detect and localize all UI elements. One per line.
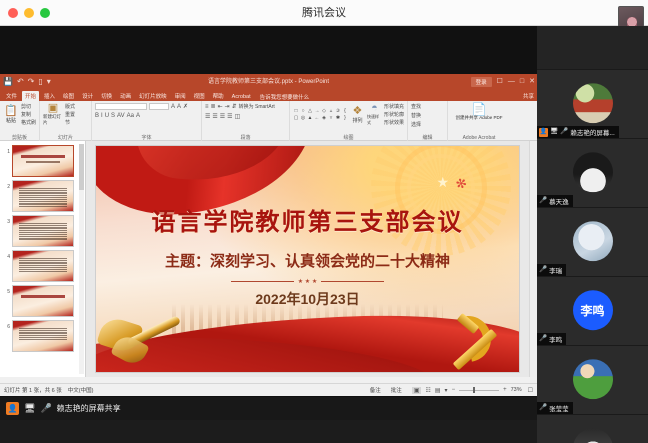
powerpoint-window-buttons[interactable]: 登录 ☐ — □ ✕ <box>471 76 535 87</box>
participant-name: 慕天逸 <box>549 196 569 206</box>
paste-icon: 📋 <box>4 106 18 117</box>
clear-formatting-icon[interactable]: ✗ <box>183 103 188 110</box>
participant-tile-4[interactable]: 🎤 张莹莹 <box>537 346 648 415</box>
new-slide-button[interactable]: ▣ 新建幻灯片 <box>43 103 63 126</box>
close-icon[interactable]: ✕ <box>529 76 535 87</box>
thumbnail-slide-2[interactable] <box>12 180 74 212</box>
participant-namebar: 👤 🖥 🎤 赖志艳的屏幕... <box>537 126 619 138</box>
arrange-button[interactable]: ❖ 排列 <box>350 106 365 124</box>
group-label-editing: 编辑 <box>408 134 447 141</box>
zoom-slider-knob[interactable] <box>473 387 475 393</box>
slide-subtitle: 主题：深刻学习、认真领会党的二十大精神 <box>96 250 519 271</box>
tab-design[interactable]: 设计 <box>79 91 96 101</box>
meeting-bottom-bar: 👤 🖥 🎤 赖志艳的屏幕共享 <box>0 397 537 420</box>
ribbon-group-acrobat: 📄 创建并共享 Adobe PDF Adobe Acrobat <box>448 101 510 141</box>
avatar <box>573 152 613 192</box>
screen-share-icon[interactable]: 🖥 <box>24 403 35 414</box>
view-slide-sorter-button[interactable]: ☷ <box>425 387 430 394</box>
participant-name: 李鸣 <box>549 334 562 344</box>
ribbon-group-slides: ▣ 新建幻灯片 版式 重置 节 幻灯片 <box>40 101 92 141</box>
tab-view[interactable]: 视图 <box>191 91 208 101</box>
underline-icon[interactable]: U <box>105 113 109 119</box>
screen-root: 腾讯会议 💾 ↶ ↷ ▯ ▾ 语言学院教师第三支部会议.pptx - Power… <box>0 0 648 443</box>
thumb-text-lines <box>19 223 67 240</box>
view-slideshow-button[interactable]: ▾ <box>445 387 448 394</box>
ribbon-group-drawing: □○△→ ◇▵✰{ ▢◎▲← ◈▿✱} ❖ 排列 ◓ 快速样式 <box>290 101 408 141</box>
meeting-titlebar: 腾讯会议 <box>0 0 648 26</box>
increase-indent-icon[interactable]: ⇥ <box>225 103 230 110</box>
participant-namebar: 🎤 李鸣 <box>537 333 566 345</box>
layout-item[interactable]: 版式 <box>65 103 75 110</box>
section-item[interactable]: 节 <box>65 119 75 126</box>
thumb-text-lines <box>19 188 67 207</box>
host-badge-icon: 👤 <box>6 402 19 415</box>
replace-item[interactable]: 替换 <box>411 112 444 119</box>
thumbnail-slide-1[interactable] <box>12 145 74 177</box>
powerpoint-status-bar: 幻灯片 第 1 张，共 6 张 中文(中国) 备注 批注 ▣ ☷ ▤ ▾ − +… <box>0 383 537 396</box>
ribbon-tabs[interactable]: 文件 开始 插入 绘图 设计 切换 动画 幻灯片放映 审阅 视图 帮助 Acro… <box>0 90 537 101</box>
maximize-icon[interactable]: □ <box>520 76 524 87</box>
microphone-muted-icon: 🎤 <box>539 197 547 205</box>
tab-review[interactable]: 审阅 <box>172 91 189 101</box>
host-badge-icon: 👤 <box>539 128 548 137</box>
thumbnail-scrollbar[interactable] <box>79 144 84 374</box>
star-icon: ★ <box>436 174 449 191</box>
zoom-in-button[interactable]: + <box>503 387 507 393</box>
group-label-clipboard: 剪贴板 <box>0 134 39 141</box>
thumb-title-bar <box>21 155 65 158</box>
shared-screen-stage: 💾 ↶ ↷ ▯ ▾ 语言学院教师第三支部会议.pptx - PowerPoint… <box>0 26 537 420</box>
zoom-level[interactable]: 73% <box>511 387 522 393</box>
thumbnail-row[interactable]: 6 <box>0 319 85 354</box>
paste-button[interactable]: 📋 粘贴 <box>3 106 19 124</box>
participant-rail[interactable]: 👤 🖥 🎤 赖志艳的屏幕... 🎤 慕天逸 🎤 李瑞 李鸣 <box>537 26 648 443</box>
participant-name: 赖志艳的屏幕... <box>570 127 614 137</box>
powerpoint-titlebar: 💾 ↶ ↷ ▯ ▾ 语言学院教师第三支部会议.pptx - PowerPoint… <box>0 74 537 90</box>
strikethrough-icon[interactable]: S <box>111 113 115 119</box>
slide-divider: ★ ★ ★ <box>231 277 383 286</box>
avatar <box>573 83 613 123</box>
ribbon-group-font: A A ✗ B I U S AV Aa A 字体 <box>92 101 202 141</box>
slide-thumbnail-pane[interactable]: 1 2 <box>0 141 86 377</box>
language-indicator[interactable]: 中文(中国) <box>68 386 94 394</box>
font-family-input[interactable] <box>95 103 147 110</box>
align-left-icon[interactable]: ☰ <box>205 113 210 120</box>
align-center-icon[interactable]: ☰ <box>212 113 217 120</box>
microphone-muted-icon: 🎤 <box>539 335 547 343</box>
increase-font-icon[interactable]: A <box>171 104 175 110</box>
change-case-icon[interactable]: Aa <box>127 113 134 119</box>
avatar: 李鸣 <box>573 290 613 330</box>
tab-file[interactable]: 文件 <box>3 91 20 101</box>
bullets-icon[interactable]: ≡ <box>205 104 209 110</box>
avatar <box>573 221 613 261</box>
ribbon-group-clipboard: 📋 粘贴 剪切 复制 格式刷 剪贴板 <box>0 101 40 141</box>
scrollbar-thumb[interactable] <box>79 144 84 190</box>
meeting-app-title: 腾讯会议 <box>0 0 648 26</box>
font-color-icon[interactable]: A <box>136 113 140 119</box>
participant-tile-1[interactable]: 🎤 慕天逸 <box>537 139 648 208</box>
thumb-text-lines <box>19 258 67 272</box>
format-painter-item[interactable]: 格式刷 <box>21 119 36 126</box>
participant-tile-3[interactable]: 李鸣 🎤 李鸣 <box>537 277 648 346</box>
ribbon-body: 📋 粘贴 剪切 复制 格式刷 剪贴板 ▣ <box>0 101 537 141</box>
thumbnail-row[interactable]: 2 <box>0 179 85 214</box>
divider-stars: ★ ★ ★ <box>298 278 317 285</box>
decrease-font-icon[interactable]: A <box>177 104 181 110</box>
quick-style-icon: ◓ <box>371 103 378 114</box>
ribbon-group-paragraph: ≡ ≣ ⇤ ⇥ ⇵ 转换为 SmartArt ☰ ☰ ☰ ☰ ◫ 段落 <box>202 101 290 141</box>
thumbnail-row[interactable]: 1 <box>0 144 85 179</box>
thumb-text-lines <box>19 328 67 340</box>
thumb-title-bar <box>21 295 65 298</box>
participant-namebar: 🎤 张莹莹 <box>537 402 573 414</box>
find-item[interactable]: 查找 <box>411 103 444 110</box>
thumbnail-row[interactable]: 5 <box>0 284 85 319</box>
columns-icon[interactable]: ◫ <box>235 113 241 120</box>
view-reading-button[interactable]: ▤ <box>435 387 441 394</box>
shape-gallery[interactable]: □○△→ ◇▵✰{ ▢◎▲← ◈▿✱} <box>293 108 348 121</box>
screen-share-icon: 🖥 <box>550 128 558 136</box>
participant-namebar: 🎤 李瑞 <box>537 264 566 276</box>
participant-namebar: 🎤 慕天逸 <box>537 195 573 207</box>
participant-tile-2[interactable]: 🎤 李瑞 <box>537 208 648 277</box>
powerpoint-work-area: 1 2 <box>0 141 537 377</box>
decrease-indent-icon[interactable]: ⇤ <box>218 103 223 110</box>
tab-help[interactable]: 帮助 <box>210 91 227 101</box>
thumbnail-slide-6[interactable] <box>12 320 74 352</box>
group-label-slides: 幻灯片 <box>40 134 91 141</box>
justify-icon[interactable]: ☰ <box>227 113 232 120</box>
participant-name: 李瑞 <box>549 265 562 275</box>
quick-style-button[interactable]: ◓ 快速样式 <box>367 103 382 126</box>
cut-item[interactable]: 剪切 <box>21 103 36 110</box>
shape-outline-item[interactable]: 形状轮廓 <box>384 111 404 118</box>
tab-insert[interactable]: 插入 <box>41 91 58 101</box>
microphone-icon: 🎤 <box>560 128 568 136</box>
numbering-icon[interactable]: ≣ <box>211 103 216 110</box>
smartart-item[interactable]: 转换为 SmartArt <box>239 103 275 110</box>
participant-tile-0[interactable]: 👤 🖥 🎤 赖志艳的屏幕... <box>537 70 648 139</box>
arrange-icon: ❖ <box>353 106 363 117</box>
powerpoint-window: 💾 ↶ ↷ ▯ ▾ 语言学院教师第三支部会议.pptx - PowerPoint… <box>0 74 537 396</box>
avatar <box>573 359 613 399</box>
pdf-icon: 📄 <box>472 103 487 115</box>
status-bar-right: 备注 批注 ▣ ☷ ▤ ▾ − + 73% ☐ <box>370 386 533 394</box>
microphone-icon[interactable]: 🎤 <box>40 403 51 414</box>
zoom-out-button[interactable]: − <box>452 387 456 393</box>
slide-canvas-area: ★ ✻ 语言学院教师第三支部会议 <box>86 141 529 377</box>
align-right-icon[interactable]: ☰ <box>220 113 225 120</box>
tab-transitions[interactable]: 切换 <box>98 91 115 101</box>
share-button[interactable]: 共享 <box>523 92 534 100</box>
group-label-drawing: 绘图 <box>290 134 407 141</box>
ribbon-group-editing: 查找 替换 选择 编辑 <box>408 101 448 141</box>
slide-title: 语言学院教师第三支部会议 <box>96 202 519 237</box>
slide-date: 2022年10月23日 <box>96 289 519 309</box>
group-label-font: 字体 <box>92 134 201 141</box>
avatar-initials: 李鸣 <box>580 302 604 319</box>
tab-animations[interactable]: 动画 <box>117 91 134 101</box>
new-slide-icon: ▣ <box>48 103 58 114</box>
participant-tile-partial-bottom[interactable] <box>537 415 648 443</box>
comments-button[interactable]: 批注 <box>391 386 402 394</box>
tell-me-search[interactable]: 告诉我您想要做什么 <box>260 93 310 101</box>
tab-draw[interactable]: 绘图 <box>60 91 77 101</box>
thumbnail-slide-4[interactable] <box>12 250 74 282</box>
italic-icon[interactable]: I <box>101 113 103 119</box>
shape-effects-item[interactable]: 形状效果 <box>384 119 404 126</box>
thumb-bg <box>13 286 73 316</box>
select-item[interactable]: 选择 <box>411 121 444 128</box>
tab-acrobat[interactable]: Acrobat <box>229 93 254 101</box>
participant-tile-top-partial[interactable] <box>537 26 648 70</box>
slide-counter[interactable]: 幻灯片 第 1 张，共 6 张 <box>4 386 62 394</box>
create-share-pdf-button[interactable]: 📄 创建并共享 Adobe PDF <box>451 103 507 121</box>
group-label-paragraph: 段落 <box>202 134 289 141</box>
font-size-input[interactable] <box>149 103 169 110</box>
reset-item[interactable]: 重置 <box>65 111 75 118</box>
character-spacing-icon[interactable]: AV <box>117 113 125 119</box>
bold-icon[interactable]: B <box>95 113 99 119</box>
copy-item[interactable]: 复制 <box>21 111 36 118</box>
line-spacing-icon[interactable]: ⇵ <box>232 103 237 110</box>
avatar <box>573 428 613 443</box>
thumbnail-row[interactable]: 4 <box>0 249 85 284</box>
view-normal-button[interactable]: ▣ <box>412 387 422 394</box>
thumb-sub-bar <box>26 161 60 163</box>
microphone-muted-icon: 🎤 <box>539 266 547 274</box>
thumbnail-slide-5[interactable] <box>12 285 74 317</box>
fit-slide-button[interactable]: ☐ <box>528 387 533 394</box>
shape-fill-item[interactable]: 形状填充 <box>384 103 404 110</box>
tab-home[interactable]: 开始 <box>22 91 39 101</box>
sign-in-button[interactable]: 登录 <box>471 77 492 87</box>
thumbnail-row[interactable]: 3 <box>0 214 85 249</box>
slide-canvas[interactable]: ★ ✻ 语言学院教师第三支部会议 <box>95 145 520 373</box>
zoom-slider[interactable] <box>459 390 499 391</box>
ribbon-display-icon[interactable]: ☐ <box>497 76 503 87</box>
tab-slideshow[interactable]: 幻灯片放映 <box>136 91 170 101</box>
notes-button[interactable]: 备注 <box>370 386 381 394</box>
right-pane-scrollbar[interactable] <box>529 141 537 377</box>
participant-name: 张莹莹 <box>549 403 569 413</box>
thumbnail-slide-3[interactable] <box>12 215 74 247</box>
document-title: 语言学院教师第三支部会议.pptx - PowerPoint <box>0 74 537 90</box>
minimize-icon[interactable]: — <box>508 76 515 87</box>
microphone-muted-icon: 🎤 <box>539 404 547 412</box>
screen-share-label: 赖志艳的屏幕共享 <box>57 403 121 414</box>
